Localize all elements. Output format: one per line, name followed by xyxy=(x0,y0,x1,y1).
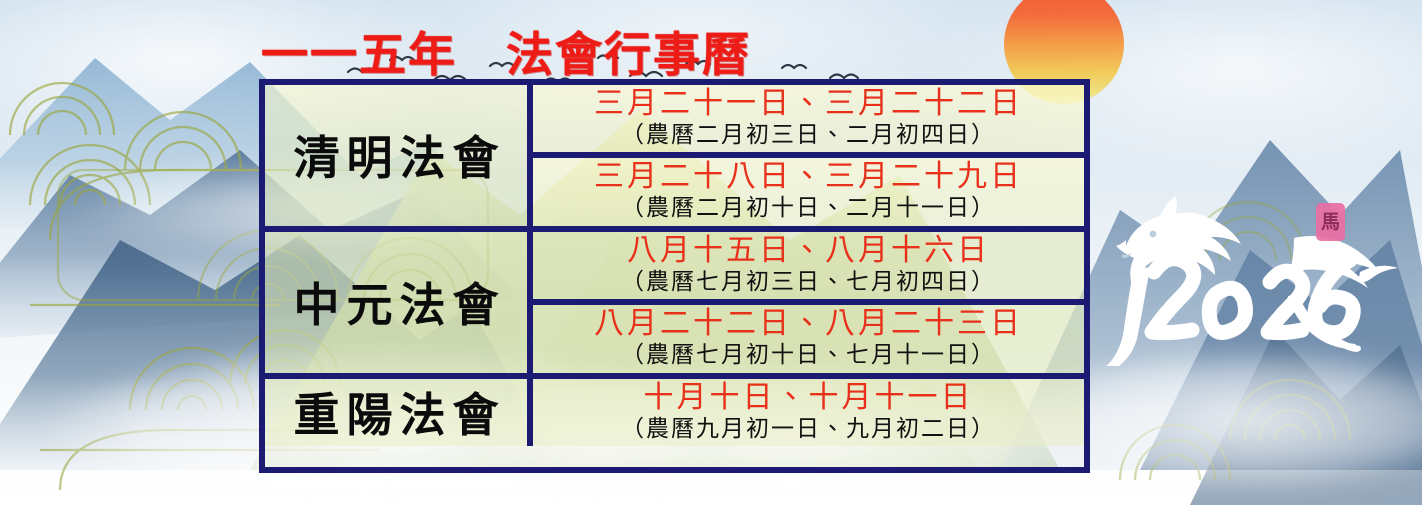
solar-date: 八月十五日、八月十六日 xyxy=(627,234,990,267)
page-title: 一一五年 法會行事曆 xyxy=(0,16,1012,85)
festival-calendar-banner: 一一五年 法會行事曆 清明法會 三月二十一日、三月二十二日 （農曆二月初三日、二… xyxy=(0,0,1422,505)
table-row: 重陽法會 十月十日、十月十一日 （農曆九月初一日、九月初二日） xyxy=(265,373,1084,446)
solar-date: 三月二十八日、三月二十九日 xyxy=(594,160,1023,193)
date-column: 十月十日、十月十一日 （農曆九月初一日、九月初二日） xyxy=(533,379,1084,446)
date-column: 三月二十一日、三月二十二日 （農曆二月初三日、二月初四日） 三月二十八日、三月二… xyxy=(533,85,1084,226)
date-entry: 八月二十二日、八月二十三日 （農曆七月初十日、七月十一日） xyxy=(533,299,1084,372)
lunar-date: （農曆七月初十日、七月十一日） xyxy=(621,342,996,368)
ceremony-label-chongyang: 重陽法會 xyxy=(265,379,533,446)
date-entry: 三月二十一日、三月二十二日 （農曆二月初三日、二月初四日） xyxy=(533,85,1084,152)
date-column: 八月十五日、八月十六日 （農曆七月初三日、七月初四日） 八月二十二日、八月二十三… xyxy=(533,232,1084,373)
seigaiha-wave-ornament-right-upper xyxy=(1100,150,1400,300)
lunar-date: （農曆二月初十日、二月十一日） xyxy=(621,195,996,221)
solar-date: 十月十日、十月十一日 xyxy=(644,381,974,414)
date-entry: 三月二十八日、三月二十九日 （農曆二月初十日、二月十一日） xyxy=(533,152,1084,225)
solar-date: 八月二十二日、八月二十三日 xyxy=(594,307,1023,340)
horse-seal-stamp-icon: 馬 xyxy=(1316,203,1345,241)
date-entry: 十月十日、十月十一日 （農曆九月初一日、九月初二日） xyxy=(533,379,1084,446)
lunar-date: （農曆九月初一日、九月初二日） xyxy=(621,416,996,442)
table-row: 清明法會 三月二十一日、三月二十二日 （農曆二月初三日、二月初四日） 三月二十八… xyxy=(265,85,1084,226)
horse-calligraphy-art xyxy=(1098,176,1398,366)
seigaiha-wave-ornament-left xyxy=(0,55,290,315)
table-row: 中元法會 八月十五日、八月十六日 （農曆七月初三日、七月初四日） 八月二十二日、… xyxy=(265,226,1084,373)
calendar-table: 清明法會 三月二十一日、三月二十二日 （農曆二月初三日、二月初四日） 三月二十八… xyxy=(259,79,1090,473)
seigaiha-wave-ornament-right xyxy=(1080,330,1420,505)
date-entry: 八月十五日、八月十六日 （農曆七月初三日、七月初四日） xyxy=(533,232,1084,299)
lunar-date: （農曆二月初三日、二月初四日） xyxy=(621,122,996,148)
ceremony-label-zhongyuan: 中元法會 xyxy=(265,232,533,373)
lunar-date: （農曆七月初三日、七月初四日） xyxy=(621,269,996,295)
ceremony-label-qingming: 清明法會 xyxy=(265,85,533,226)
solar-date: 三月二十一日、三月二十二日 xyxy=(594,87,1023,120)
